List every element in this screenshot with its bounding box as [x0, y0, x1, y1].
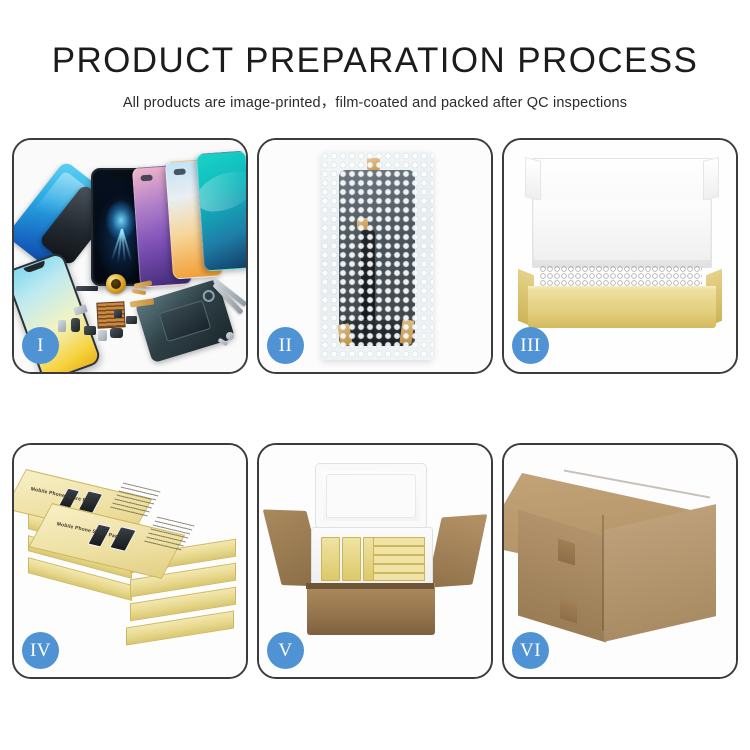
- step-panel-4[interactable]: Mobile Phone Spare Parts Mobile Phone Sp…: [12, 443, 248, 679]
- page-title: PRODUCT PREPARATION PROCESS: [0, 41, 750, 81]
- spare-part: [58, 320, 66, 332]
- gold-coil-component-icon: [106, 274, 126, 294]
- teal-gradient-phone-icon: [196, 150, 248, 271]
- step-panel-6[interactable]: VI: [502, 443, 738, 679]
- page-subtitle: All products are image-printed，film-coat…: [0, 91, 750, 112]
- phone-notch: [24, 261, 47, 274]
- step-badge-1: I: [22, 327, 59, 364]
- bubble-wrap-bag-icon: [321, 152, 433, 360]
- step-panel-3[interactable]: III: [502, 138, 738, 374]
- spare-part: [71, 318, 80, 332]
- carton-body-icon: [307, 583, 435, 635]
- process-steps-grid: I II: [12, 138, 738, 679]
- product-preparation-process-page: PRODUCT PREPARATION PROCESS All products…: [0, 0, 750, 750]
- spare-part: [126, 316, 137, 324]
- camera-module-icon: [173, 168, 185, 175]
- battery-icon: [159, 300, 212, 342]
- carton-flap-right: [427, 514, 488, 588]
- yellow-box: [321, 537, 340, 581]
- packed-yellow-boxes-horizontal: [373, 537, 425, 581]
- spare-part: [84, 326, 96, 335]
- foam-case-lid-icon: [315, 463, 427, 529]
- spare-part-flex-cable: [132, 289, 146, 295]
- spare-part: [114, 310, 122, 318]
- bubble-texture: [321, 152, 433, 360]
- kraft-box-front-icon: [528, 290, 716, 328]
- spare-part-speaker: [110, 328, 123, 338]
- step-badge-6: VI: [512, 632, 549, 669]
- spare-part: [76, 286, 98, 291]
- spare-part-screw: [98, 330, 107, 341]
- camera-ring-icon: [201, 288, 216, 303]
- step-panel-5[interactable]: V: [257, 443, 493, 679]
- step-panel-2[interactable]: II: [257, 138, 493, 374]
- step-badge-4: IV: [22, 632, 59, 669]
- step-badge-5: V: [267, 632, 304, 669]
- carton-corner-seam: [602, 515, 604, 631]
- header: PRODUCT PREPARATION PROCESS All products…: [0, 0, 750, 112]
- camera-module-icon: [140, 175, 152, 182]
- step-badge-2: II: [267, 327, 304, 364]
- foam-inner-face: [534, 200, 710, 260]
- spare-part-screw: [226, 332, 234, 340]
- step-panel-1[interactable]: I: [12, 138, 248, 374]
- step-badge-3: III: [512, 327, 549, 364]
- yellow-box: [342, 537, 361, 581]
- phone-notch: [109, 173, 133, 178]
